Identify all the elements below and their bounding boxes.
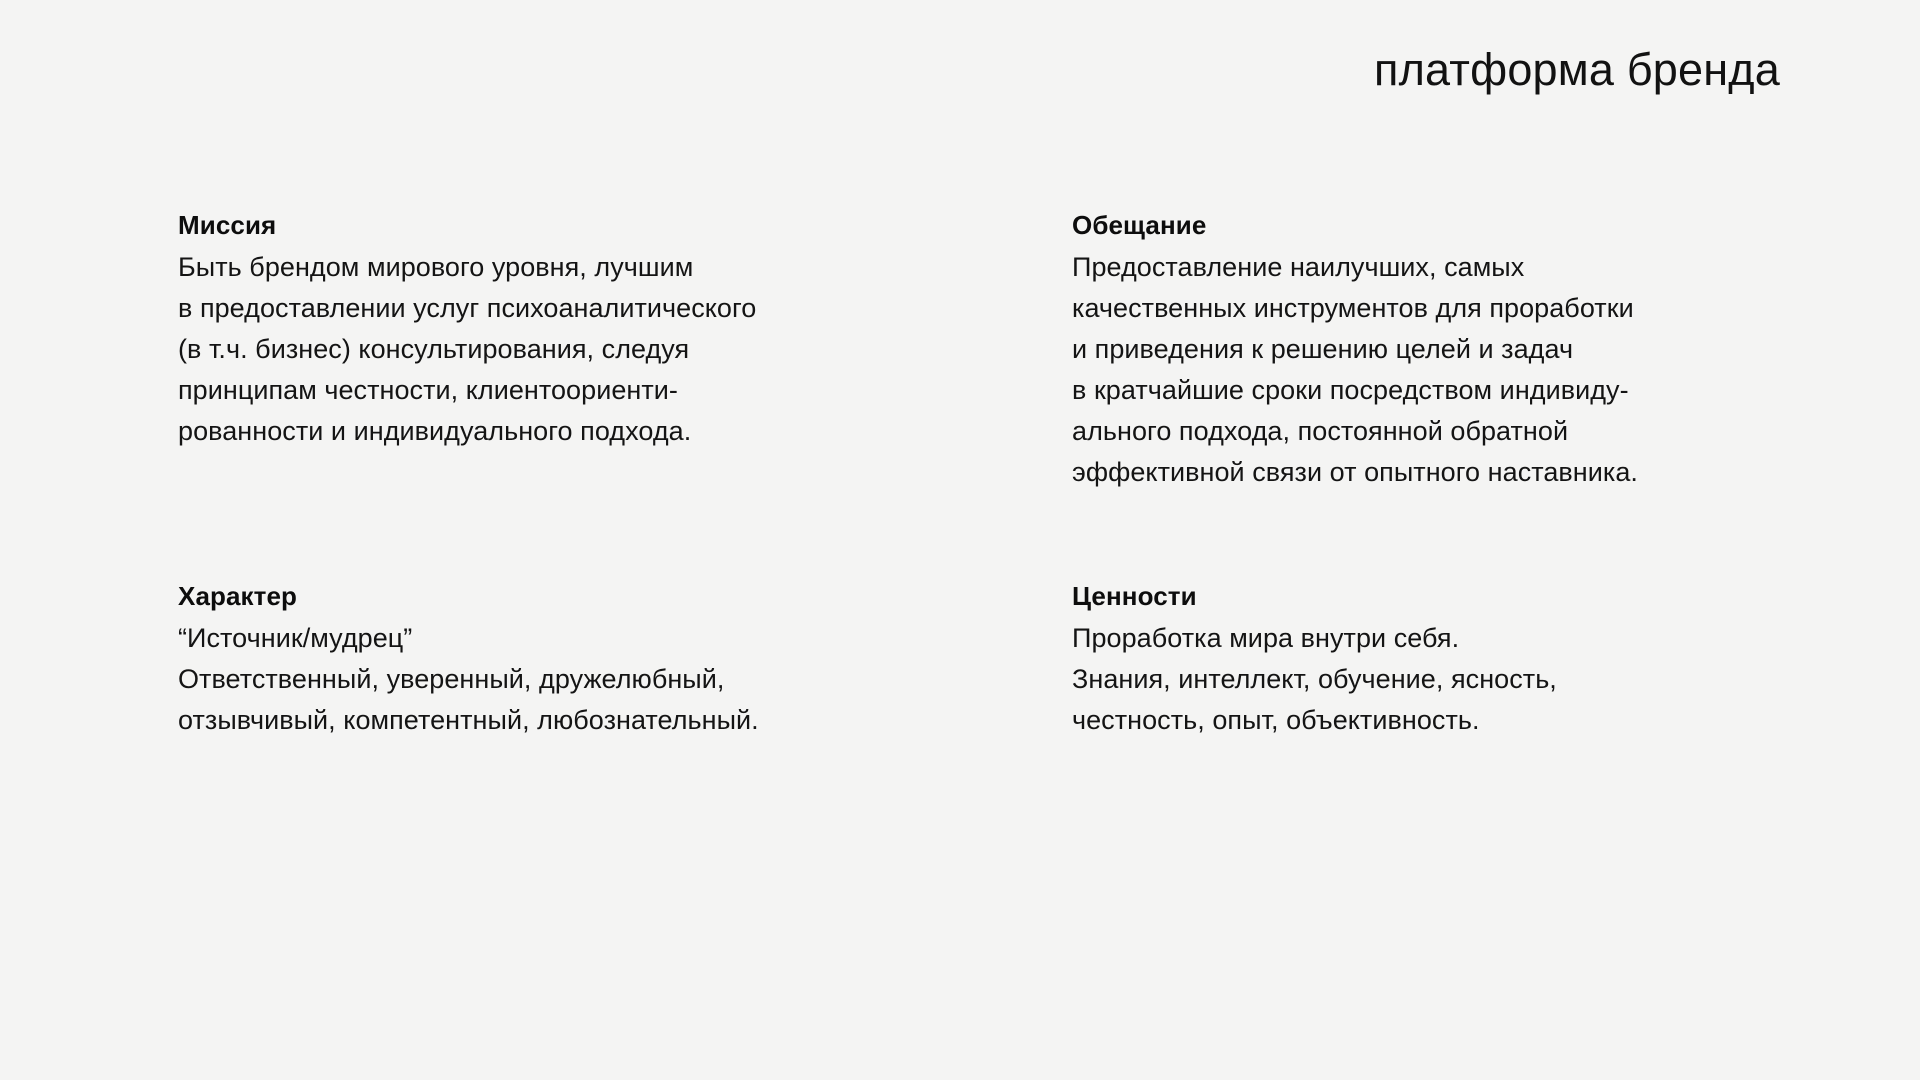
- block-mission-line: (в т.ч. бизнес) консультирования, следуя: [178, 329, 1072, 370]
- block-character: Характер “Источник/мудрец” Ответственный…: [178, 576, 1072, 741]
- blocks-row-top: Миссия Быть брендом мирового уровня, луч…: [178, 205, 1798, 493]
- block-promise-line: в кратчайшие сроки посредством индивиду-: [1072, 370, 1798, 411]
- blocks-row-bottom: Характер “Источник/мудрец” Ответственный…: [178, 576, 1798, 741]
- block-character-body: “Источник/мудрец” Ответственный, уверенн…: [178, 618, 1072, 741]
- block-mission-body: Быть брендом мирового уровня, лучшим в п…: [178, 247, 1072, 452]
- block-mission-heading: Миссия: [178, 205, 1072, 246]
- block-mission-line: рованности и индивидуального подхода.: [178, 411, 1072, 452]
- block-promise-heading: Обещание: [1072, 205, 1798, 246]
- block-values-body: Проработка мира внутри себя. Знания, инт…: [1072, 618, 1798, 741]
- block-values-line: Проработка мира внутри себя.: [1072, 618, 1798, 659]
- block-promise-line: Предоставление наилучших, самых: [1072, 247, 1798, 288]
- block-mission-line: Быть брендом мирового уровня, лучшим: [178, 247, 1072, 288]
- block-values: Ценности Проработка мира внутри себя. Зн…: [1072, 576, 1798, 741]
- brand-platform-slide: платформа бренда Миссия Быть брендом мир…: [0, 0, 1920, 1080]
- block-values-line: честность, опыт, объективность.: [1072, 700, 1798, 741]
- block-promise-line: качественных инструментов для проработки: [1072, 288, 1798, 329]
- block-values-heading: Ценности: [1072, 576, 1798, 617]
- block-promise: Обещание Предоставление наилучших, самых…: [1072, 205, 1798, 493]
- block-mission-line: в предоставлении услуг психоаналитическо…: [178, 288, 1072, 329]
- block-promise-line: ального подхода, постоянной обратной: [1072, 411, 1798, 452]
- block-promise-body: Предоставление наилучших, самых качестве…: [1072, 247, 1798, 493]
- block-promise-line: эффективной связи от опытного наставника…: [1072, 452, 1798, 493]
- block-mission-line: принципам честности, клиентоориенти-: [178, 370, 1072, 411]
- block-mission: Миссия Быть брендом мирового уровня, луч…: [178, 205, 1072, 493]
- block-character-line: Ответственный, уверенный, дружелюбный,: [178, 659, 1072, 700]
- block-character-line: отзывчивый, компетентный, любознательный…: [178, 700, 1072, 741]
- blocks-grid: Миссия Быть брендом мирового уровня, луч…: [178, 205, 1798, 741]
- block-character-heading: Характер: [178, 576, 1072, 617]
- page-title: платформа бренда: [1374, 44, 1780, 96]
- block-promise-line: и приведения к решению целей и задач: [1072, 329, 1798, 370]
- block-values-line: Знания, интеллект, обучение, ясность,: [1072, 659, 1798, 700]
- block-character-line: “Источник/мудрец”: [178, 618, 1072, 659]
